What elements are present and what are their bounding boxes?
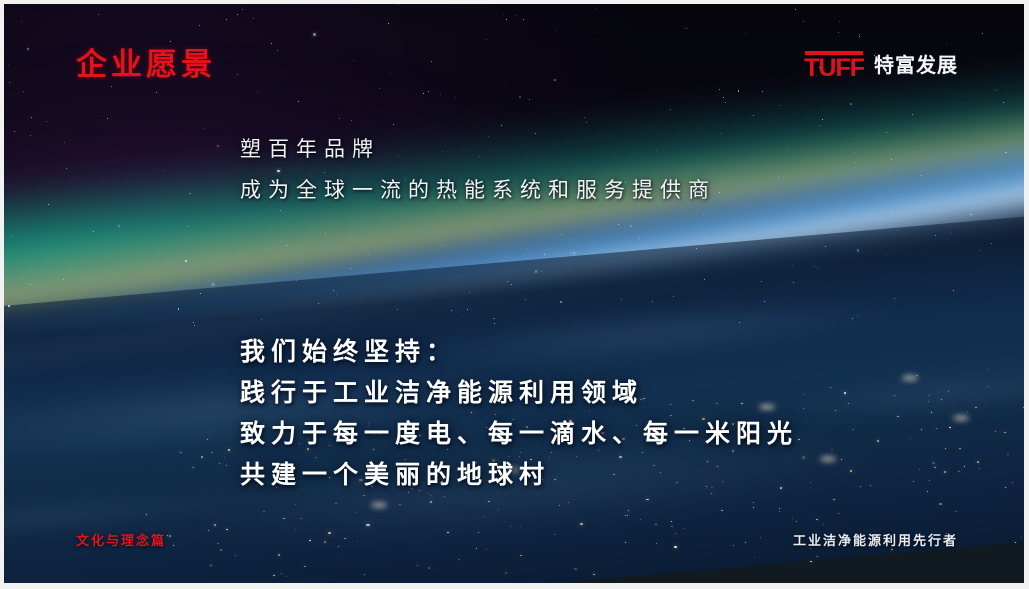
brand-logo: TUFF 特富发展 (804, 51, 958, 81)
page-title: 企业愿景 (76, 48, 216, 82)
footer-section-label: 文化与理念篇 (76, 530, 166, 549)
vision-line: 塑百年品牌 (240, 129, 716, 170)
slide-content: 企业愿景 TUFF 特富发展 塑百年品牌 成为全球一流的热能系统和服务提供商 我… (4, 4, 1024, 583)
tuff-wordmark-icon: TUFF (804, 51, 864, 81)
creed-line: 致力于每一度电、每一滴水、每一米阳光 (240, 414, 798, 455)
slide-frame: 企业愿景 TUFF 特富发展 塑百年品牌 成为全球一流的热能系统和服务提供商 我… (0, 0, 1029, 589)
vision-line: 成为全球一流的热能系统和服务提供商 (240, 170, 716, 211)
creed-line: 我们始终坚持： (240, 332, 798, 373)
footer-tagline: 工业洁净能源利用先行者 (793, 530, 958, 549)
creed-statement-block: 我们始终坚持： 践行于工业洁净能源利用领域 致力于每一度电、每一滴水、每一米阳光… (240, 332, 798, 496)
slide-canvas: 企业愿景 TUFF 特富发展 塑百年品牌 成为全球一流的热能系统和服务提供商 我… (4, 4, 1024, 583)
brand-name-cn: 特富发展 (874, 56, 958, 76)
creed-line: 共建一个美丽的地球村 (240, 455, 798, 496)
vision-statement-block: 塑百年品牌 成为全球一流的热能系统和服务提供商 (240, 129, 716, 211)
creed-line: 践行于工业洁净能源利用领域 (240, 373, 798, 414)
